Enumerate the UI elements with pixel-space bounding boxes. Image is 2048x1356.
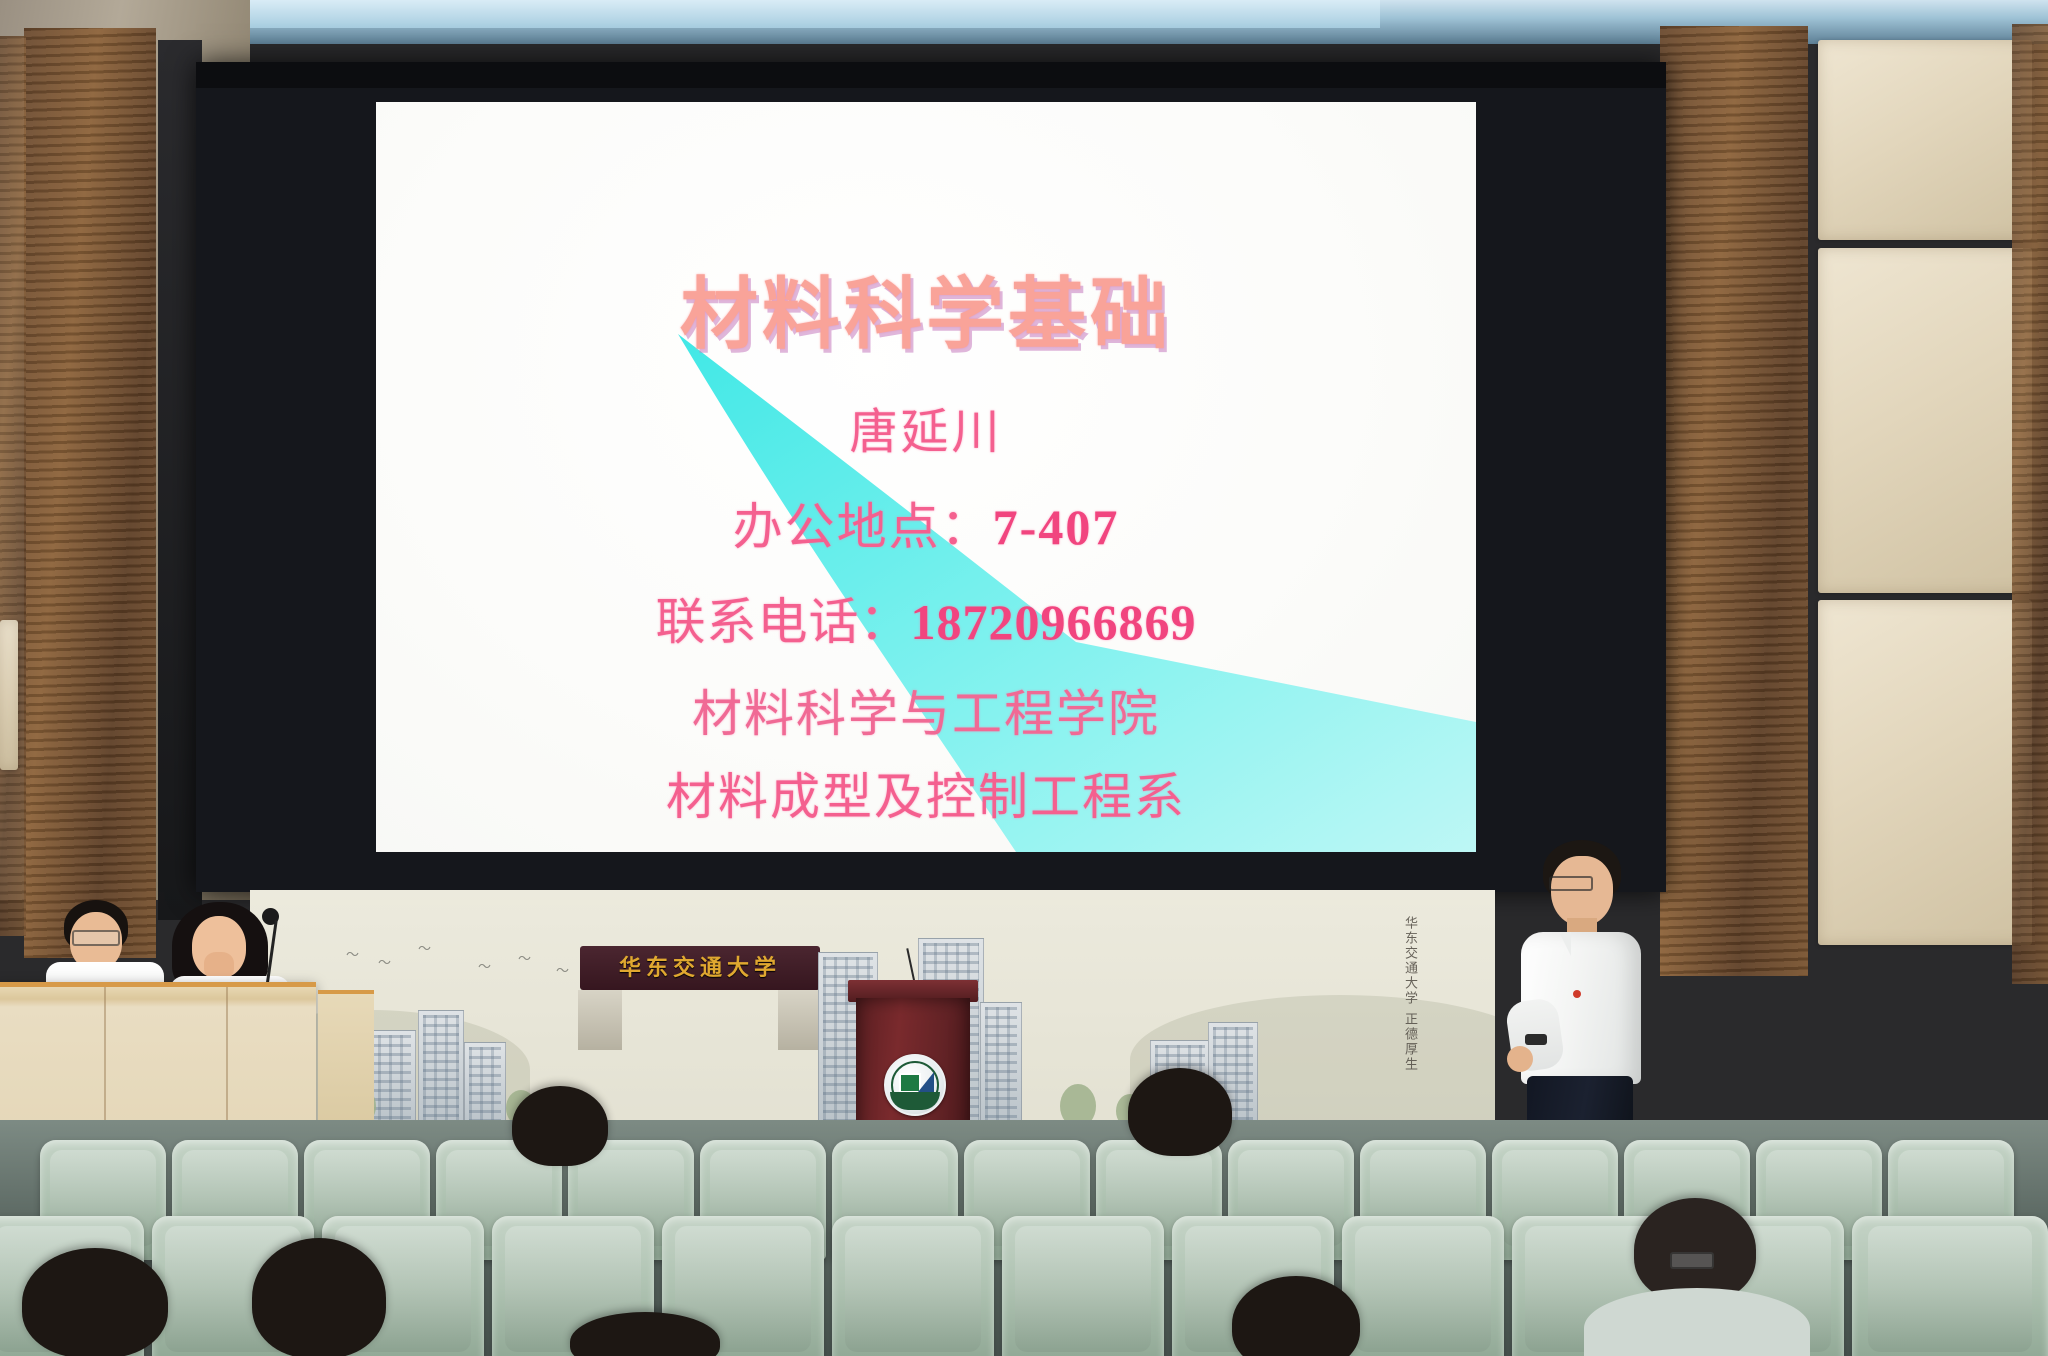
mural-campus-gate: 华东交通大学 (580, 920, 820, 1040)
audience-head-foreground (1634, 1198, 1756, 1302)
bird-icon: 〜 (478, 960, 491, 973)
slide-text-content: 材料科学基础 唐延川 办公地点：7-407 联系电话：18720966869 材… (376, 102, 1476, 852)
audience-head (1128, 1068, 1232, 1156)
presenter-hand (1507, 1046, 1533, 1072)
gate-leg (578, 990, 622, 1050)
bird-icon: 〜 (378, 956, 391, 969)
bird-icon: 〜 (418, 942, 431, 955)
audience-head-foreground (22, 1248, 168, 1356)
slide-office-line: 办公地点：7-407 (376, 487, 1476, 559)
mural-calligraphy: 华东交通大学 正德厚生 (1401, 916, 1417, 1072)
audience-seat (1852, 1216, 2048, 1356)
panelist-glasses-icon (72, 930, 120, 946)
audience-head (512, 1086, 608, 1166)
bird-icon: 〜 (556, 964, 569, 977)
slide-phone-line: 联系电话：18720966869 (376, 582, 1476, 654)
phone-label: 联系电话： (656, 593, 911, 651)
university-crest-icon (884, 1054, 946, 1116)
presenter-lapel-pin-icon (1573, 990, 1581, 998)
mural-building (464, 1042, 506, 1128)
screen-bezel (196, 62, 1666, 88)
slide-title: 材料科学基础 (376, 252, 1476, 364)
presenter-face (1551, 856, 1613, 926)
wall-pad-mid-right (1818, 248, 2032, 593)
mural-building (980, 1002, 1022, 1130)
wall-pad-left-upper (0, 620, 18, 770)
crest-sail (918, 1072, 934, 1092)
bird-icon: 〜 (518, 952, 531, 965)
audience-glasses-icon (1670, 1252, 1714, 1269)
mural-building (418, 1010, 464, 1128)
presenter-glasses-icon (1549, 876, 1593, 891)
presentation-slide: 材料科学基础 唐延川 办公地点：7-407 联系电话：18720966869 材… (376, 102, 1476, 852)
wood-panel-right (1660, 26, 1808, 976)
audience-seat (832, 1216, 994, 1356)
crest-arc (890, 1092, 940, 1110)
slide-presenter-name: 唐延川 (376, 392, 1476, 462)
presenter-watch-icon (1525, 1034, 1547, 1045)
projection-screen-frame: 材料科学基础 唐延川 办公地点：7-407 联系电话：18720966869 材… (196, 62, 1666, 892)
wall-pad-low-right (1818, 600, 2032, 945)
office-label: 办公地点： (733, 498, 993, 556)
gate-university-name: 华东交通大学 (580, 950, 820, 982)
audience-seat (1342, 1216, 1504, 1356)
wood-panel-left (24, 28, 156, 958)
lecture-hall-scene: 材料科学基础 唐延川 办公地点：7-407 联系电话：18720966869 材… (0, 0, 2048, 1356)
slide-department: 材料成型及控制工程系 (376, 757, 1476, 829)
bird-icon: 〜 (346, 948, 359, 961)
slide-college: 材料科学与工程学院 (376, 674, 1476, 746)
phone-value: 18720966869 (911, 594, 1197, 650)
wall-pad-top-right (1818, 40, 2032, 240)
gate-leg (778, 990, 822, 1050)
audience-seat (1002, 1216, 1164, 1356)
wood-trim-far-right (2012, 24, 2048, 984)
presenter-collar (1559, 932, 1571, 956)
office-value: 7-407 (993, 499, 1120, 555)
audience-head-foreground (252, 1238, 386, 1356)
wood-panel-left-outer (0, 36, 26, 936)
